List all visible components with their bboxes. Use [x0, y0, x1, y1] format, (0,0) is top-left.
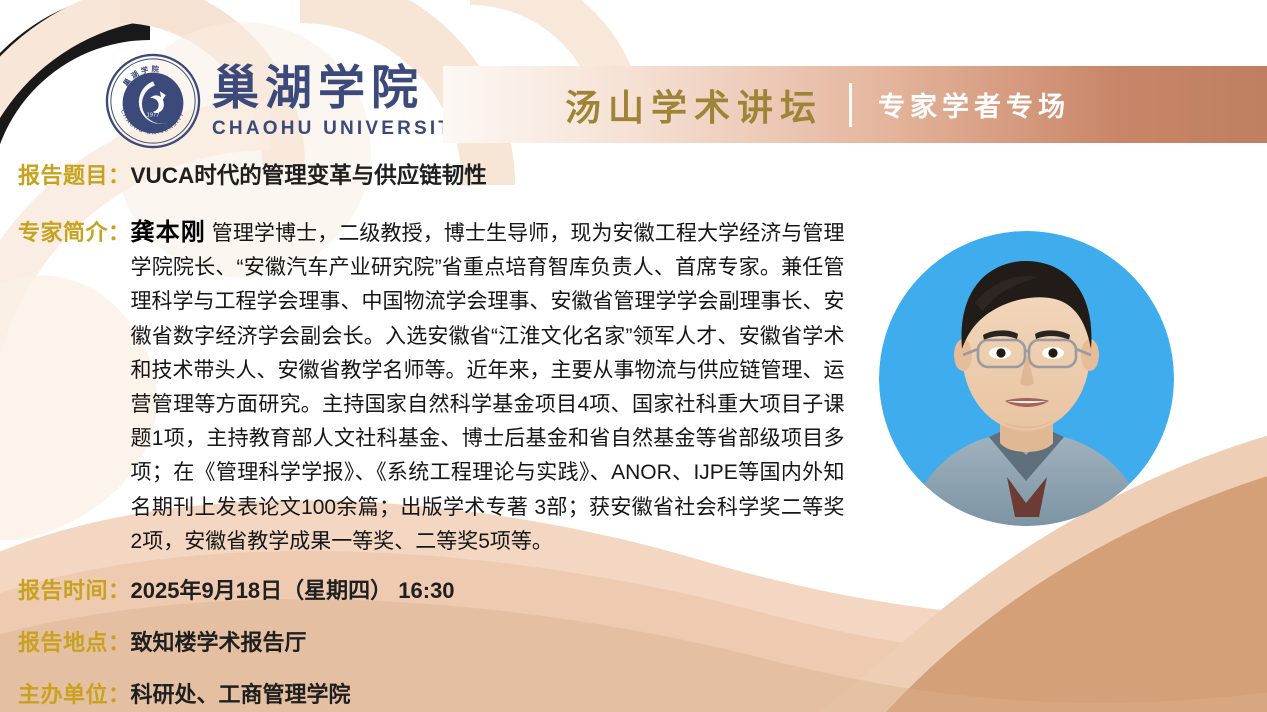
place-row: 报告地点： 致知楼学术报告厅 [18, 625, 307, 657]
forum-subtitle: 专家学者专场 [878, 85, 1070, 124]
bio-body: 龚本刚 管理学博士，二级教授，博士生导师，现为安徽工程大学经济与管理学院院长、“… [131, 216, 845, 559]
bio-text: 管理学博士，二级教授，博士生导师，现为安徽工程大学经济与管理学院院长、“安徽汽车… [131, 222, 845, 553]
host-value: 科研处、工商管理学院 [131, 677, 351, 709]
host-label: 主办单位： [18, 677, 131, 709]
university-name-cn: 巢湖学院 [212, 65, 469, 112]
time-value: 2025年9月18日（星期四） 16:30 [131, 573, 455, 605]
banner-divider [849, 83, 852, 127]
poster-header: 1977 巢 湖 学 院 CHAOHU UNIVERSITY 巢湖学院 CHAO… [0, 0, 1267, 150]
university-logo: 1977 巢 湖 学 院 CHAOHU UNIVERSITY 巢湖学院 CHAO… [104, 52, 469, 150]
topic-row: 报告题目： VUCA时代的管理变革与供应链韧性 [18, 158, 487, 190]
place-label: 报告地点： [18, 625, 131, 657]
topic-label: 报告题目： [18, 158, 131, 190]
university-seal-icon: 1977 巢 湖 学 院 CHAOHU UNIVERSITY [104, 52, 202, 150]
speaker-name: 龚本刚 [131, 219, 206, 246]
portrait-photo [879, 231, 1174, 526]
host-row: 主办单位： 科研处、工商管理学院 [18, 677, 351, 709]
forum-title: 汤山学术讲坛 [565, 79, 823, 131]
forum-banner: 汤山学术讲坛 专家学者专场 [443, 66, 1267, 143]
topic-value: VUCA时代的管理变革与供应链韧性 [131, 158, 487, 190]
speaker-portrait [879, 231, 1174, 526]
seminar-poster: 1977 巢 湖 学 院 CHAOHU UNIVERSITY 巢湖学院 CHAO… [0, 0, 1267, 712]
time-label: 报告时间： [18, 573, 131, 605]
biography-row: 专家简介： 龚本刚 管理学博士，二级教授，博士生导师，现为安徽工程大学经济与管理… [18, 216, 845, 559]
bio-label: 专家简介： [18, 216, 131, 250]
university-name-en: CHAOHU UNIVERSITY [212, 119, 469, 138]
place-value: 致知楼学术报告厅 [131, 625, 307, 657]
time-row: 报告时间： 2025年9月18日（星期四） 16:30 [18, 573, 455, 605]
svg-text:1977: 1977 [147, 113, 159, 119]
